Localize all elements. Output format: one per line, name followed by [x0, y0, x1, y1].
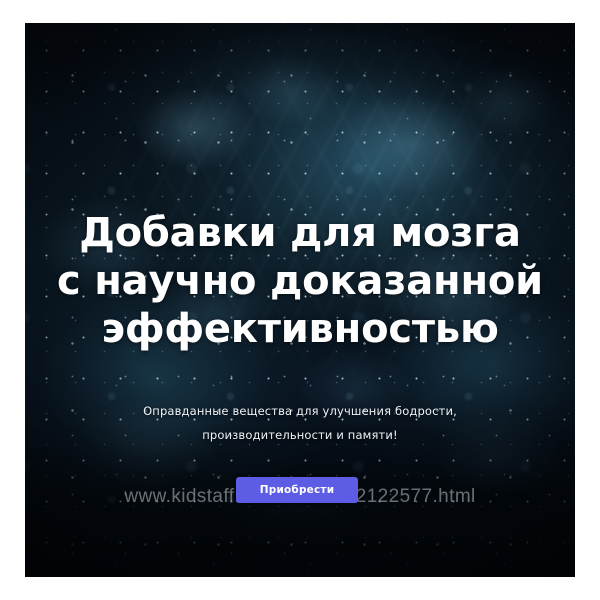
banner-content: Добавки для мозга с научно доказанной эф… — [25, 23, 575, 577]
purchase-button[interactable]: Приобрести — [236, 477, 358, 503]
subtitle: Оправданные вещества для улучшения бодро… — [25, 399, 575, 447]
headline: Добавки для мозга с научно доказанной эф… — [25, 209, 575, 353]
hero-banner: Добавки для мозга с научно доказанной эф… — [25, 23, 575, 577]
